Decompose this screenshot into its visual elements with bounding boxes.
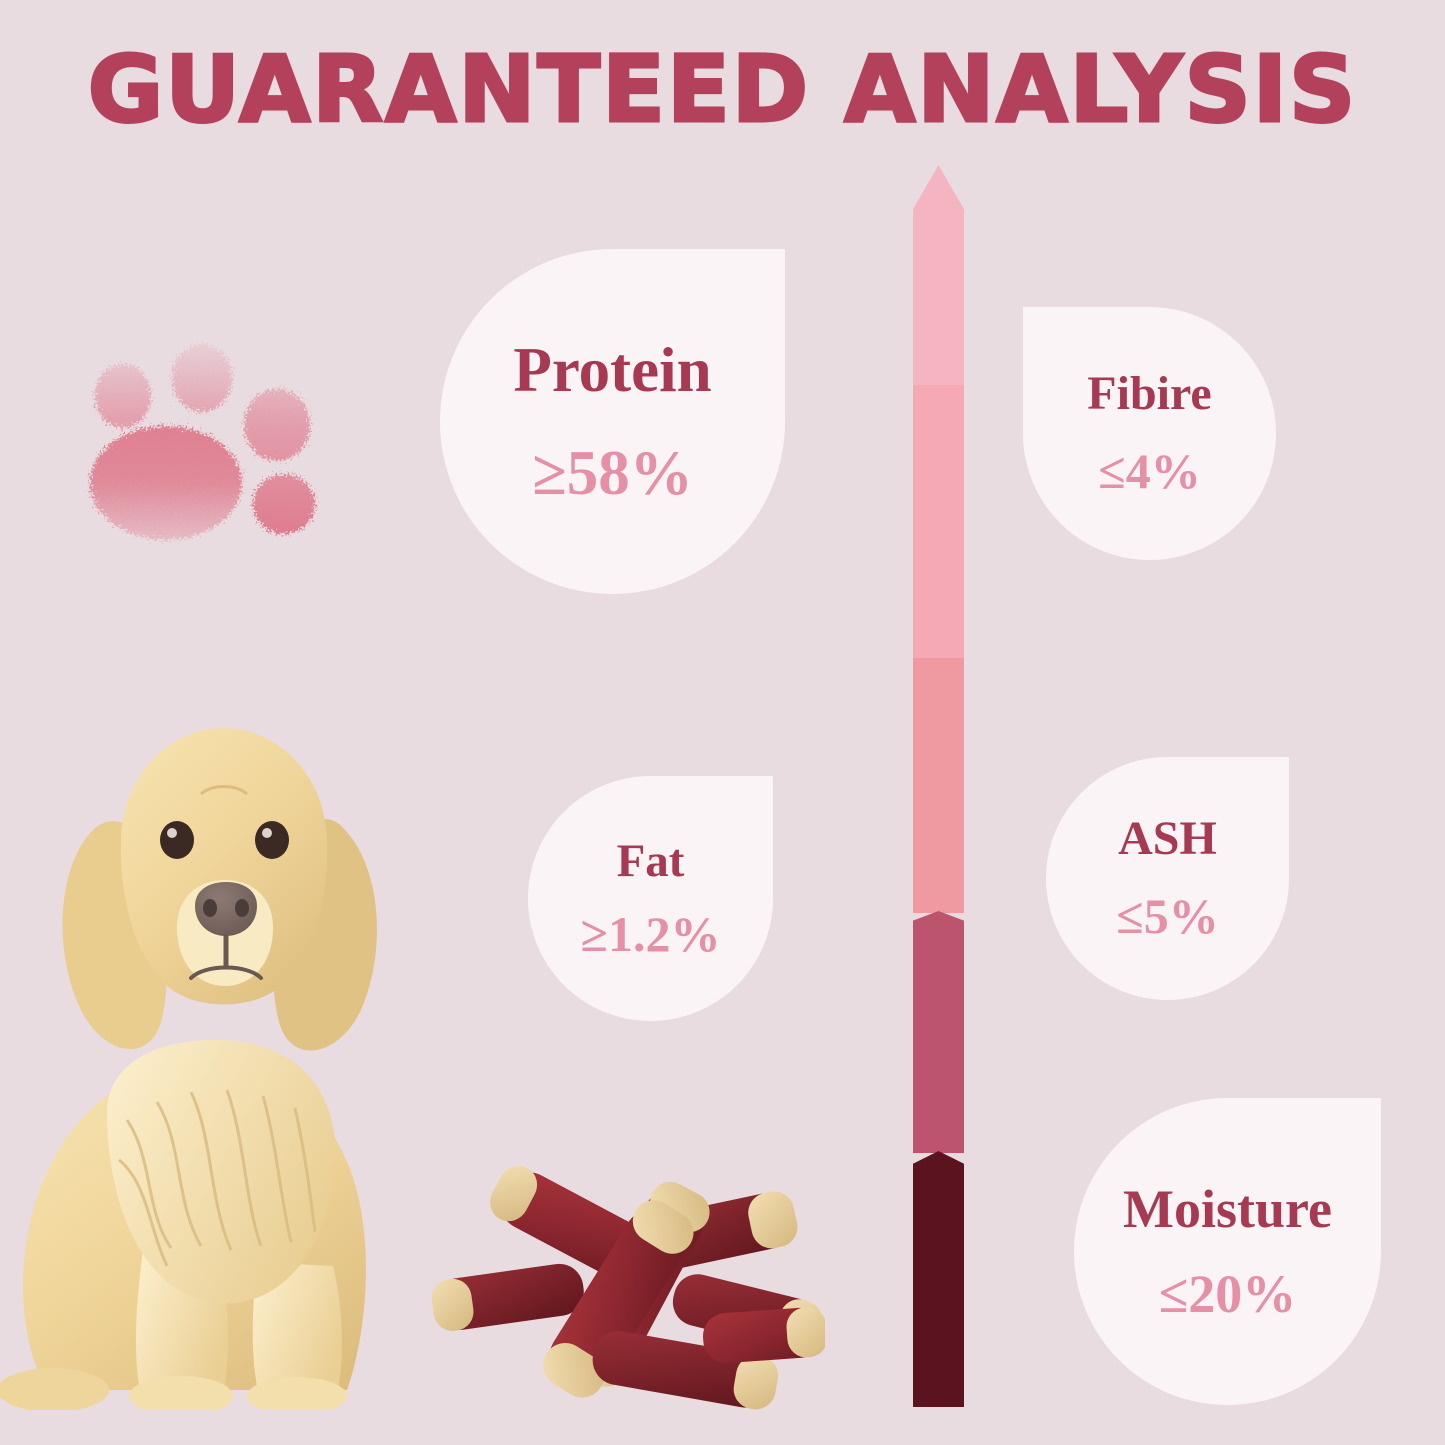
meter-arrow-tip xyxy=(913,165,964,213)
paw-print-icon xyxy=(78,323,346,579)
meter-segment-4 xyxy=(913,911,964,1153)
guaranteed-analysis-infographic: GUARANTEED ANALYSIS xyxy=(0,0,1445,1445)
meter-segment-2 xyxy=(913,385,964,660)
nutrient-card-moisture: Moisture ≤20% xyxy=(1074,1098,1381,1405)
nutrient-value-fibire: ≤4% xyxy=(1098,445,1200,498)
nutrient-label-protein: Protein xyxy=(513,337,711,403)
meter-segment-1 xyxy=(913,211,964,387)
nutrient-card-protein: Protein ≥58% xyxy=(440,249,785,594)
meter-segment-5 xyxy=(913,1151,964,1407)
nutrient-value-protein: ≥58% xyxy=(532,440,693,506)
nutrient-label-ash: ASH xyxy=(1118,814,1217,864)
nutrient-label-fibire: Fibire xyxy=(1087,369,1211,419)
nutrient-card-fat: Fat ≥1.2% xyxy=(528,776,773,1021)
vertical-gradient-arrow-meter xyxy=(913,165,964,1407)
golden-retriever-figurine xyxy=(0,690,465,1410)
nutrient-card-ash: ASH ≤5% xyxy=(1046,757,1289,1000)
nutrient-value-moisture: ≤20% xyxy=(1159,1266,1297,1323)
nutrient-card-fibire: Fibire ≤4% xyxy=(1023,307,1276,560)
nutrient-label-moisture: Moisture xyxy=(1123,1181,1332,1238)
nutrient-label-fat: Fat xyxy=(617,837,685,886)
nutrient-value-fat: ≥1.2% xyxy=(581,908,721,961)
meter-segment-3 xyxy=(913,658,964,913)
dog-treat-sticks xyxy=(425,1105,825,1430)
nutrient-value-ash: ≤5% xyxy=(1116,890,1218,943)
page-title: GUARANTEED ANALYSIS xyxy=(0,44,1445,136)
